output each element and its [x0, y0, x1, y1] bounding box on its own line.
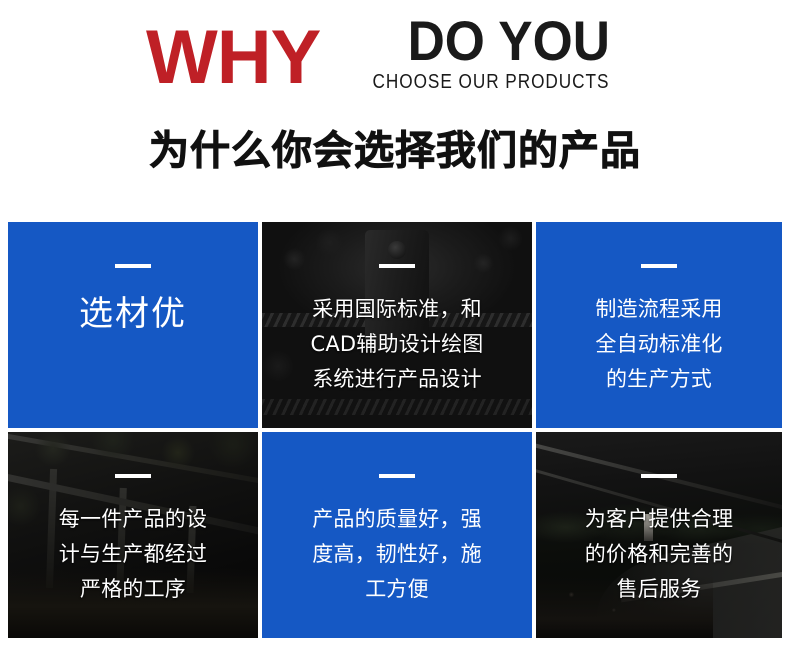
feature-cell-3: 制造流程采用 全自动标准化 的生产方式	[536, 222, 782, 428]
feature-text-3: 制造流程采用 全自动标准化 的生产方式	[585, 292, 732, 397]
feature-cell-1: 选材优	[8, 222, 258, 428]
feature-text-5: 产品的质量好，强 度高，韧性好，施 工方便	[302, 502, 492, 607]
divider-dash-6	[641, 474, 677, 478]
divider-dash-2	[379, 264, 415, 268]
page-header: WHY DO YOU CHOOSE OUR PRODUCTS 为什么你会选择我们…	[0, 0, 790, 210]
divider-dash-5	[379, 474, 415, 478]
headline-right-stack: DO YOU CHOOSE OUR PRODUCTS	[334, 14, 609, 96]
headline-do-you: DO YOU	[407, 14, 609, 68]
feature-text-2: 采用国际标准，和 CAD辅助设计绘图 系统进行产品设计	[301, 292, 494, 397]
feature-cell-4: 每一件产品的设 计与生产都经过 严格的工序	[8, 432, 258, 638]
feature-grid: 选材优 采用国际标准，和 CAD辅助设计绘图 系统进行产品设计 制造流程采用 全…	[8, 222, 782, 638]
feature-cell-5: 产品的质量好，强 度高，韧性好，施 工方便	[262, 432, 532, 638]
headline-block: WHY DO YOU CHOOSE OUR PRODUCTS	[0, 18, 790, 96]
divider-dash-1	[115, 264, 151, 268]
divider-dash-3	[641, 264, 677, 268]
divider-dash-4	[115, 474, 151, 478]
headline-subtitle-chinese: 为什么你会选择我们的产品	[0, 126, 790, 176]
feature-cell-6: 为客户提供合理 的价格和完善的 售后服务	[536, 432, 782, 638]
feature-text-6: 为客户提供合理 的价格和完善的 售后服务	[575, 502, 743, 607]
headline-choose-our-products: CHOOSE OUR PRODUCTS	[373, 70, 610, 94]
bottom-white-strip	[0, 638, 790, 665]
feature-text-1: 选材优	[69, 292, 197, 336]
feature-text-4: 每一件产品的设 计与生产都经过 严格的工序	[49, 502, 217, 607]
promo-banner-page: WHY DO YOU CHOOSE OUR PRODUCTS 为什么你会选择我们…	[0, 0, 790, 665]
headline-why: WHY	[146, 20, 320, 96]
feature-cell-2: 采用国际标准，和 CAD辅助设计绘图 系统进行产品设计	[262, 222, 532, 428]
